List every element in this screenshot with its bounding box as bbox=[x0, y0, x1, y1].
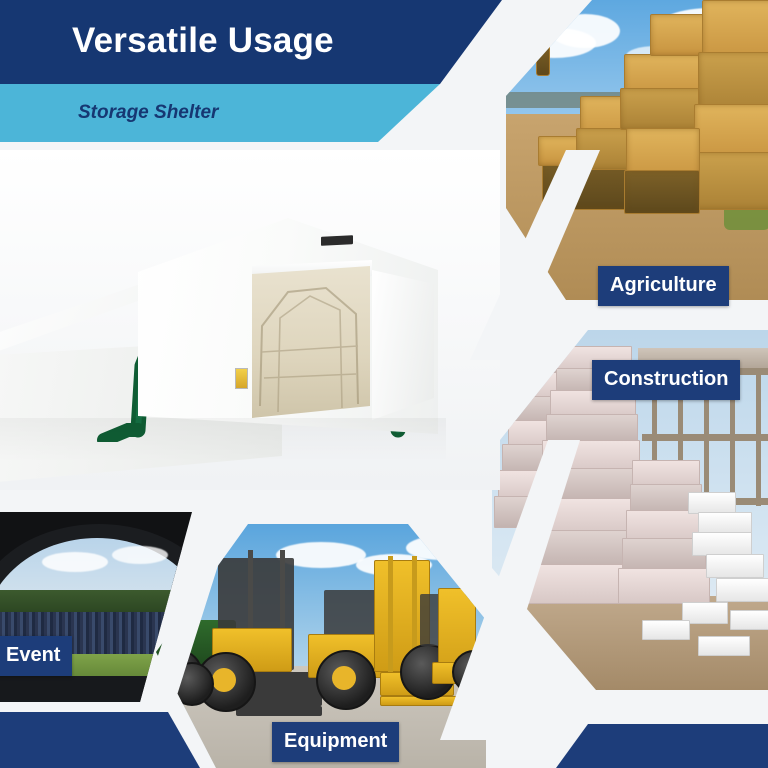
shelter-right-door-panel bbox=[372, 270, 434, 420]
badge-construction[interactable]: Construction bbox=[592, 360, 740, 400]
shelter-ground-shadow bbox=[0, 418, 446, 462]
page-subtitle: Storage Shelter bbox=[78, 96, 218, 130]
badge-equipment[interactable]: Equipment bbox=[272, 722, 399, 762]
block-stack-item bbox=[716, 578, 768, 602]
shelter-interior-frame bbox=[252, 266, 370, 418]
hay-bale bbox=[690, 152, 768, 210]
footer-accent-right bbox=[556, 724, 768, 768]
wheel-rim bbox=[212, 668, 236, 692]
block-stack-item bbox=[706, 554, 764, 578]
block-stack-item bbox=[692, 532, 752, 556]
cloud-shape bbox=[550, 14, 620, 48]
hay-bale bbox=[624, 170, 700, 214]
block-stack-item bbox=[688, 492, 736, 514]
building-frame-column bbox=[756, 366, 761, 506]
footer-accent-left bbox=[0, 712, 200, 768]
block-stack-item bbox=[730, 610, 768, 630]
badge-agriculture[interactable]: Agriculture bbox=[598, 266, 729, 306]
cloud-shape bbox=[112, 546, 168, 564]
infographic-canvas: Versatile Usage Storage Shelter Agricult… bbox=[0, 0, 768, 768]
hay-bale bbox=[698, 52, 768, 112]
shelter-roof-vent bbox=[321, 235, 353, 246]
forklift-mast bbox=[388, 556, 393, 676]
block-stack-item bbox=[698, 512, 752, 534]
cloud-shape bbox=[42, 552, 108, 572]
hay-bale bbox=[536, 44, 550, 76]
forklift-fork-tine bbox=[236, 706, 322, 716]
page-title: Versatile Usage bbox=[72, 16, 334, 66]
header-teal-band bbox=[0, 84, 502, 142]
block-stack-item bbox=[698, 636, 750, 656]
shelter-open-doorway bbox=[252, 266, 370, 418]
badge-event[interactable]: Event bbox=[0, 636, 72, 676]
hero-product-image bbox=[0, 150, 500, 490]
block-stack-item bbox=[618, 568, 710, 604]
shelter-door-latch bbox=[235, 368, 248, 389]
wheel-rim bbox=[332, 666, 356, 690]
block-stack-item bbox=[642, 620, 690, 640]
